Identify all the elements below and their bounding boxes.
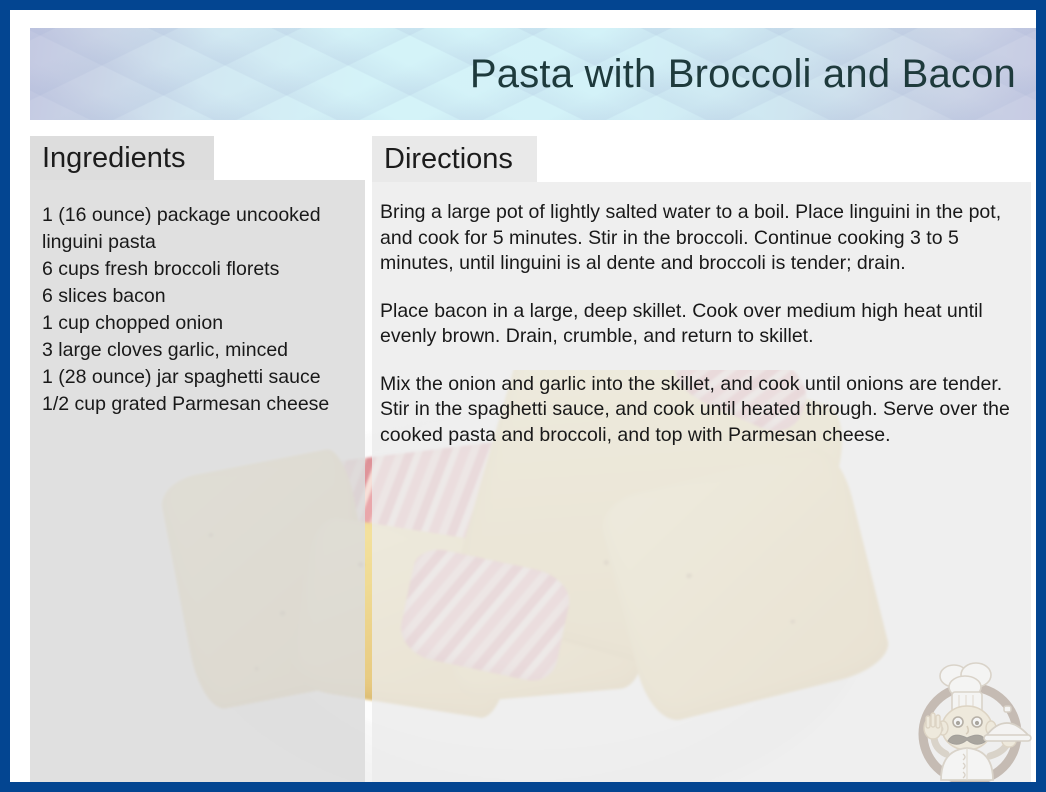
directions-panel: Bring a large pot of lightly salted wate… — [372, 182, 1031, 788]
directions-header: Directions — [372, 136, 537, 182]
ingredients-header-label: Ingredients — [42, 142, 186, 175]
direction-paragraph: Mix the onion and garlic into the skille… — [380, 372, 1023, 449]
list-item: 6 cups fresh broccoli florets — [42, 256, 351, 283]
recipe-slide: Pasta with Broccoli and Bacon Ingredient… — [0, 0, 1046, 792]
direction-paragraph: Place bacon in a large, deep skillet. Co… — [380, 299, 1023, 350]
list-item: 1/2 cup grated Parmesan cheese — [42, 391, 351, 418]
directions-header-label: Directions — [384, 143, 513, 176]
list-item: linguini pasta — [42, 229, 351, 256]
ingredients-panel: 1 (16 ounce) package uncooked linguini p… — [30, 180, 365, 788]
list-item: 1 (16 ounce) package uncooked — [42, 202, 351, 229]
list-item: 1 (28 ounce) jar spaghetti sauce — [42, 364, 351, 391]
list-item: 1 cup chopped onion — [42, 310, 351, 337]
direction-paragraph: Bring a large pot of lightly salted wate… — [380, 200, 1023, 277]
ingredients-header: Ingredients — [30, 136, 214, 180]
list-item: 3 large cloves garlic, minced — [42, 337, 351, 364]
title-banner: Pasta with Broccoli and Bacon — [30, 28, 1036, 120]
list-item: 6 slices bacon — [42, 283, 351, 310]
page-title: Pasta with Broccoli and Bacon — [470, 52, 1016, 97]
